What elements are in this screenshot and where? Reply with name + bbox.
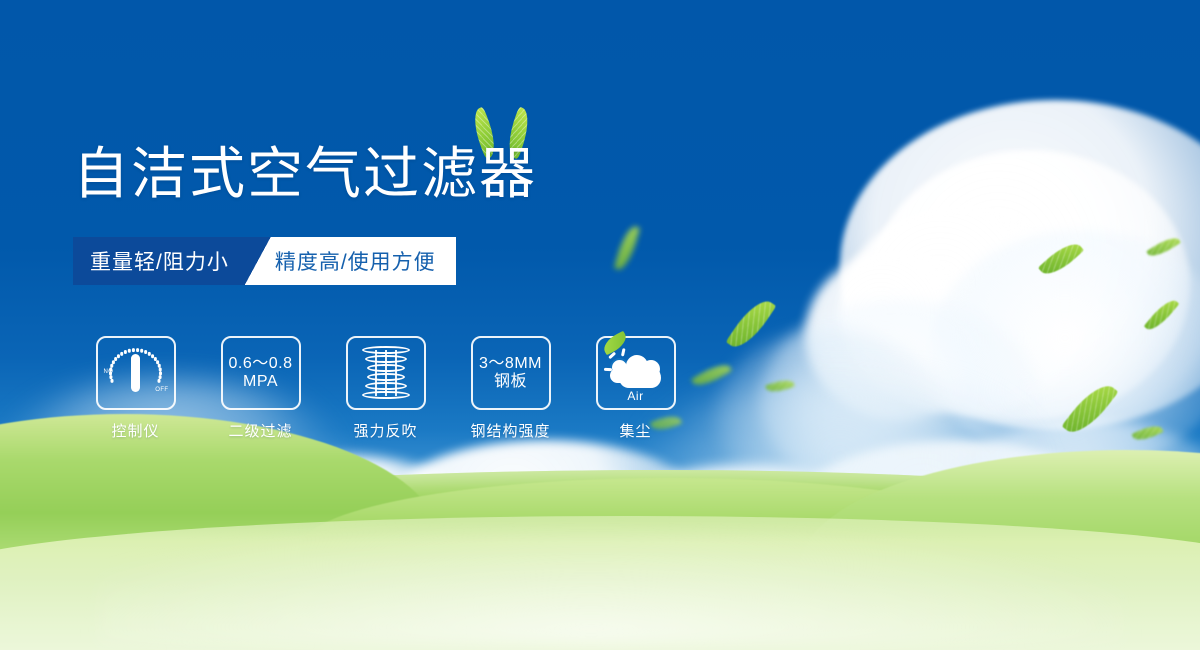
feature-icon-box: 0.6〜0.8 MPA xyxy=(221,336,301,410)
coil-ring xyxy=(367,373,405,381)
product-hero-banner: 自洁式空气过滤器 重量轻/阻力小 精度高/使用方便 NO OFF 控制仪 0.6… xyxy=(0,0,1200,650)
feature-item[interactable]: 3〜8MM 钢板 钢结构强度 xyxy=(448,336,573,441)
gauge-tick-dot xyxy=(110,379,113,382)
coil-ring xyxy=(362,391,410,399)
gauge-tick-dot xyxy=(110,364,113,367)
sun-ray xyxy=(603,368,611,371)
coil-ring xyxy=(367,364,405,372)
pressure-text-icon: 0.6〜0.8 MPA xyxy=(229,355,293,391)
subtitle-right: 精度高/使用方便 xyxy=(271,237,456,285)
gauge-tick-dot xyxy=(140,349,143,352)
gauge-tick-dot xyxy=(136,348,139,351)
feature-caption: 二级过滤 xyxy=(198,420,323,441)
coil-stack-icon xyxy=(361,346,411,400)
coil-ring xyxy=(365,355,407,363)
feature-caption: 强力反吹 xyxy=(323,420,448,441)
feature-icon-box: 3〜8MM 钢板 xyxy=(471,336,551,410)
gauge-off-label: OFF xyxy=(155,387,168,393)
gauge-tick-dot xyxy=(157,379,160,382)
gauge-needle xyxy=(131,354,140,392)
field-sunlight-sheen xyxy=(96,526,1128,646)
feature-caption: 控制仪 xyxy=(73,420,198,441)
control-gauge-icon: NO OFF xyxy=(105,345,167,401)
gauge-tick-dot xyxy=(114,357,117,360)
feature-icon-box: Air xyxy=(596,336,676,410)
gauge-tick-dot xyxy=(112,361,115,364)
feature-list: NO OFF 控制仪 0.6〜0.8 MPA 二级过滤 xyxy=(73,336,698,441)
coil-ring xyxy=(365,382,407,390)
feature-icon-box: NO OFF xyxy=(96,336,176,410)
feature-icon-box xyxy=(346,336,426,410)
feature-item[interactable]: 0.6〜0.8 MPA 二级过滤 xyxy=(198,336,323,441)
coil-ring xyxy=(362,346,410,354)
steel-plate-text-icon: 3〜8MM 钢板 xyxy=(479,355,542,391)
sun-ray xyxy=(620,348,624,356)
gauge-tick-dot xyxy=(120,352,123,355)
feature-item[interactable]: NO OFF 控制仪 xyxy=(73,336,198,441)
gauge-tick-dot xyxy=(132,348,135,351)
feature-caption: 集尘 xyxy=(573,420,698,441)
subtitle-divider-wedge xyxy=(245,237,271,285)
subtitle-left: 重量轻/阻力小 xyxy=(73,237,245,285)
air-label: Air xyxy=(606,389,666,403)
subtitle-bar: 重量轻/阻力小 精度高/使用方便 xyxy=(73,237,456,285)
cloud-air-icon: Air xyxy=(606,346,666,400)
feature-item[interactable]: Air 集尘 xyxy=(573,336,698,441)
page-title: 自洁式空气过滤器 xyxy=(73,146,537,202)
gauge-tick-dot xyxy=(124,350,127,353)
feature-caption: 钢结构强度 xyxy=(448,420,573,441)
gauge-tick-dot xyxy=(128,349,131,352)
feature-item[interactable]: 强力反吹 xyxy=(323,336,448,441)
cloud-body xyxy=(619,364,661,388)
gauge-tick-dot xyxy=(117,355,120,358)
